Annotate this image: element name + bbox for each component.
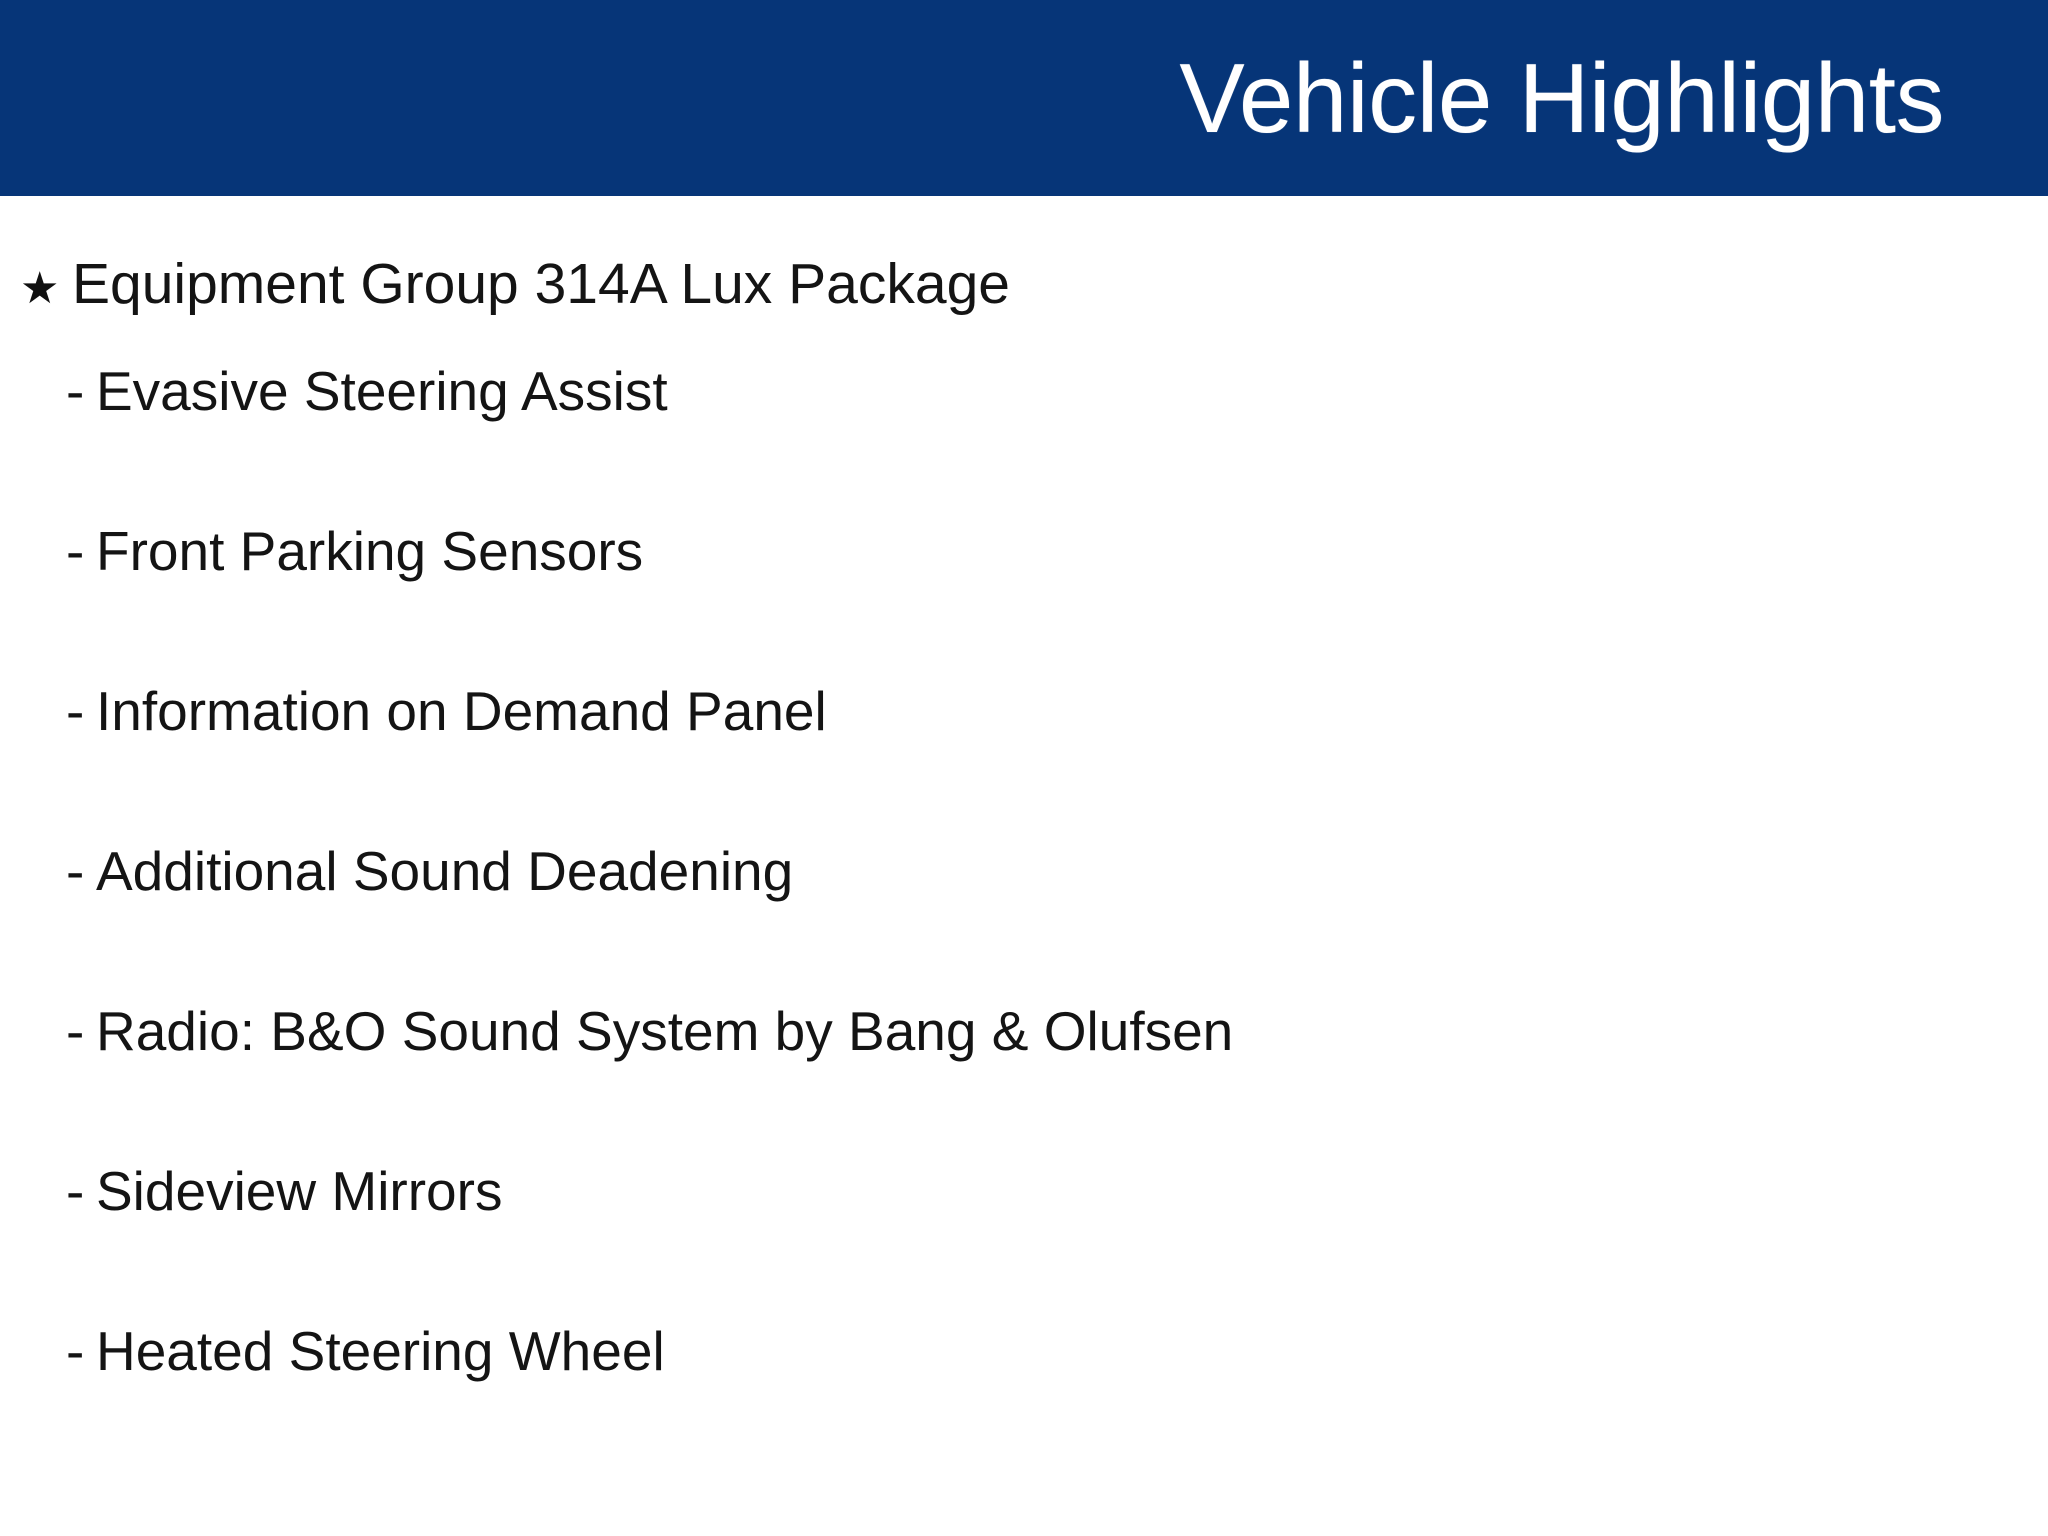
- list-item-label: Evasive Steering Assist: [96, 364, 668, 419]
- list-item-label: Additional Sound Deadening: [96, 844, 793, 899]
- dash-bullet-icon: -: [66, 524, 96, 579]
- slide-header-band: Vehicle Highlights: [0, 0, 2048, 196]
- list-item: - Evasive Steering Assist: [0, 364, 2048, 524]
- list-item: - Additional Sound Deadening: [0, 844, 2048, 1004]
- vehicle-feature-list: ★ Equipment Group 314A Lux Package - Eva…: [0, 256, 2048, 1484]
- list-item-label: Front Parking Sensors: [96, 524, 643, 579]
- star-bullet-icon: ★: [20, 267, 72, 311]
- list-item-label: Sideview Mirrors: [96, 1164, 502, 1219]
- list-item: - Radio: B&O Sound System by Bang & Oluf…: [0, 1004, 2048, 1164]
- list-item: - Front Parking Sensors: [0, 524, 2048, 684]
- list-item: - Information on Demand Panel: [0, 684, 2048, 844]
- equipment-group-label: Equipment Group 314A Lux Package: [72, 256, 1010, 313]
- dash-bullet-icon: -: [66, 844, 96, 899]
- dash-bullet-icon: -: [66, 364, 96, 419]
- list-item-equipment-group: ★ Equipment Group 314A Lux Package: [0, 256, 2048, 364]
- list-item-label: Information on Demand Panel: [96, 684, 827, 739]
- dash-bullet-icon: -: [66, 684, 96, 739]
- dash-bullet-icon: -: [66, 1324, 96, 1379]
- vehicle-highlights-slide: Vehicle Highlights ★ Equipment Group 314…: [0, 0, 2048, 1536]
- page-title: Vehicle Highlights: [1179, 49, 2048, 147]
- slide-body: ★ Equipment Group 314A Lux Package - Eva…: [0, 196, 2048, 1536]
- list-item: - Sideview Mirrors: [0, 1164, 2048, 1324]
- dash-bullet-icon: -: [66, 1004, 96, 1059]
- dash-bullet-icon: -: [66, 1164, 96, 1219]
- list-item: - Heated Steering Wheel: [0, 1324, 2048, 1484]
- list-item-label: Heated Steering Wheel: [96, 1324, 665, 1379]
- list-item-label: Radio: B&O Sound System by Bang & Olufse…: [96, 1004, 1233, 1059]
